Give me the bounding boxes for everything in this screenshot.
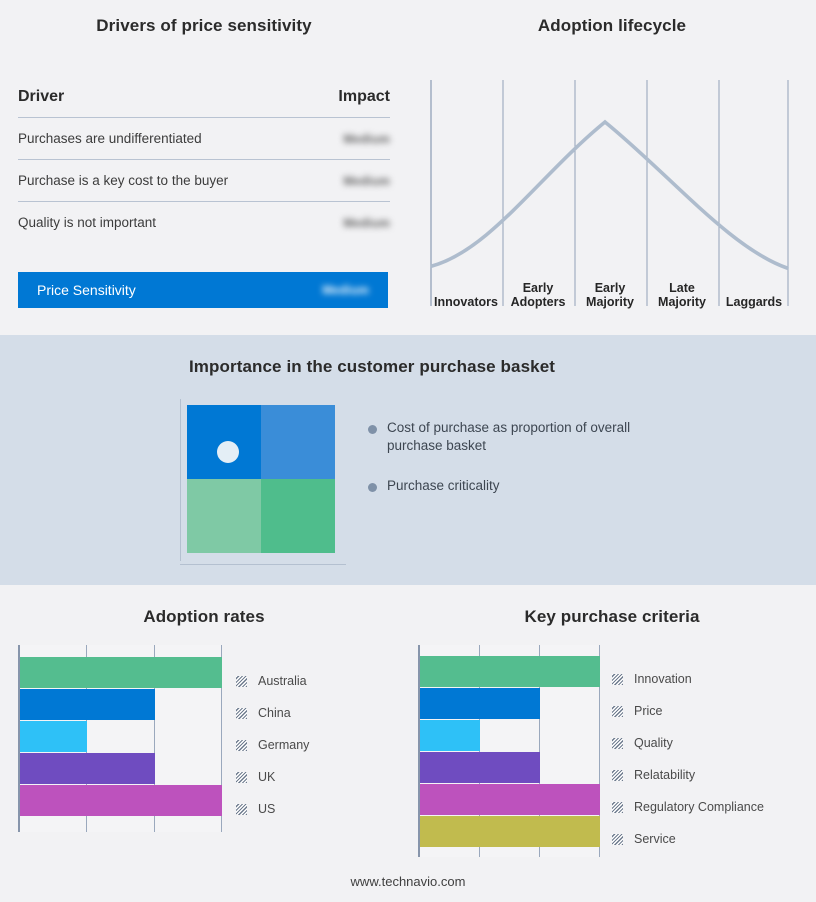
hatch-swatch-icon xyxy=(236,740,247,751)
legend-item: Regulatory Compliance xyxy=(612,791,764,823)
adoption-rates-chart xyxy=(18,645,222,832)
legend-label: Germany xyxy=(258,738,309,752)
lifecycle-stage-label: EarlyMajority xyxy=(574,281,646,310)
legend-item: Relatability xyxy=(612,759,764,791)
matrix-position-marker xyxy=(217,441,239,463)
legend-label: US xyxy=(258,802,275,816)
panel-title-adoption-rates: Adoption rates xyxy=(0,607,408,627)
column-header-driver: Driver xyxy=(18,88,294,118)
legend-label: Relatability xyxy=(634,768,695,782)
driver-name-cell: Quality is not important xyxy=(18,202,294,244)
lifecycle-bell-curve xyxy=(432,122,787,268)
impact-value-redacted: Medium xyxy=(343,132,390,146)
hatch-swatch-icon xyxy=(612,674,623,685)
panel-drivers-of-price-sensitivity: Drivers of price sensitivity Driver Impa… xyxy=(0,0,408,335)
panel-title-drivers: Drivers of price sensitivity xyxy=(0,16,408,36)
price-sensitivity-summary-row: Price Sensitivity Medium xyxy=(18,272,388,308)
legend-label: UK xyxy=(258,770,275,784)
lifecycle-stage-labels: InnovatorsEarlyAdoptersEarlyMajorityLate… xyxy=(430,266,790,310)
bar xyxy=(20,785,222,816)
quadrant-top-right xyxy=(261,405,335,479)
bar xyxy=(20,753,155,784)
table-header-row: Driver Impact xyxy=(18,88,390,118)
bar xyxy=(20,689,155,720)
legend-label: Price xyxy=(634,704,662,718)
legend-label: China xyxy=(258,706,291,720)
matrix-y-axis xyxy=(180,399,181,561)
bar xyxy=(420,656,600,687)
legend-item: Australia xyxy=(236,665,309,697)
panel-title-purchase-basket: Importance in the customer purchase bask… xyxy=(0,357,744,377)
matrix-quadrant-grid xyxy=(187,405,335,553)
table-row: Purchase is a key cost to the buyerMediu… xyxy=(18,160,390,202)
legend-label: Australia xyxy=(258,674,307,688)
driver-impact-cell: Medium xyxy=(294,118,390,160)
table-row: Purchases are undifferentiatedMedium xyxy=(18,118,390,160)
column-header-impact: Impact xyxy=(294,88,390,118)
legend-item: China xyxy=(236,697,309,729)
legend-item: Germany xyxy=(236,729,309,761)
driver-name-cell: Purchases are undifferentiated xyxy=(18,118,294,160)
key-purchase-criteria-chart xyxy=(418,645,600,857)
drivers-table: Driver Impact Purchases are undifferenti… xyxy=(18,88,390,243)
bar xyxy=(420,688,540,719)
panel-adoption-rates: Adoption rates AustraliaChinaGermanyUKUS xyxy=(0,585,408,902)
price-sensitivity-value: Medium xyxy=(322,281,388,299)
legend-label: Regulatory Compliance xyxy=(634,800,764,814)
driver-impact-cell: Medium xyxy=(294,160,390,202)
footer-url: www.technavio.com xyxy=(0,874,816,889)
lifecycle-stage-label: Innovators xyxy=(430,295,502,310)
bar xyxy=(420,720,480,751)
quadrant-bottom-right xyxy=(261,479,335,553)
legend-label: Service xyxy=(634,832,676,846)
legend-label: Purchase criticality xyxy=(387,477,500,495)
bar xyxy=(20,657,222,688)
legend-item: Price xyxy=(612,695,764,727)
bar xyxy=(420,816,600,847)
bar xyxy=(20,721,87,752)
legend-item: UK xyxy=(236,761,309,793)
plot-area xyxy=(18,645,222,832)
legend-item: Innovation xyxy=(612,663,764,695)
driver-impact-cell: Medium xyxy=(294,202,390,244)
legend-label: Cost of purchase as proportion of overal… xyxy=(387,419,647,455)
legend-item: Service xyxy=(612,823,764,855)
adoption-lifecycle-chart: InnovatorsEarlyAdoptersEarlyMajorityLate… xyxy=(430,80,790,310)
bar xyxy=(420,784,600,815)
hatch-swatch-icon xyxy=(236,676,247,687)
panel-title-adoption-lifecycle: Adoption lifecycle xyxy=(408,16,816,36)
panel-adoption-lifecycle: Adoption lifecycle InnovatorsEarlyAdopte… xyxy=(408,0,816,335)
hatch-swatch-icon xyxy=(612,706,623,717)
hatch-swatch-icon xyxy=(612,834,623,845)
purchase-basket-matrix xyxy=(180,399,350,565)
price-sensitivity-label: Price Sensitivity xyxy=(18,282,322,298)
bar xyxy=(420,752,540,783)
bullet-icon xyxy=(368,425,377,434)
hatch-swatch-icon xyxy=(612,738,623,749)
legend-item: Quality xyxy=(612,727,764,759)
legend-label: Quality xyxy=(634,736,673,750)
key-purchase-criteria-legend: InnovationPriceQualityRelatabilityRegula… xyxy=(612,663,764,855)
panel-importance-purchase-basket: Importance in the customer purchase bask… xyxy=(0,335,816,585)
adoption-rates-legend: AustraliaChinaGermanyUKUS xyxy=(236,665,309,825)
list-item: Purchase criticality xyxy=(368,477,668,495)
hatch-swatch-icon xyxy=(612,802,623,813)
lifecycle-stage-label: LateMajority xyxy=(646,281,718,310)
impact-value-redacted: Medium xyxy=(343,216,390,230)
impact-value-redacted: Medium xyxy=(343,174,390,188)
hatch-swatch-icon xyxy=(236,772,247,783)
driver-name-cell: Purchase is a key cost to the buyer xyxy=(18,160,294,202)
hatch-swatch-icon xyxy=(612,770,623,781)
list-item: Cost of purchase as proportion of overal… xyxy=(368,419,668,455)
legend-label: Innovation xyxy=(634,672,692,686)
matrix-x-axis xyxy=(180,564,346,565)
bullet-icon xyxy=(368,483,377,492)
legend-item: US xyxy=(236,793,309,825)
lifecycle-stage-label: EarlyAdopters xyxy=(502,281,574,310)
panel-key-purchase-criteria: Key purchase criteria InnovationPriceQua… xyxy=(408,585,816,902)
hatch-swatch-icon xyxy=(236,804,247,815)
plot-area xyxy=(418,645,600,857)
panel-title-key-purchase-criteria: Key purchase criteria xyxy=(408,607,816,627)
purchase-basket-legend: Cost of purchase as proportion of overal… xyxy=(368,419,668,517)
hatch-swatch-icon xyxy=(236,708,247,719)
table-row: Quality is not importantMedium xyxy=(18,202,390,244)
lifecycle-stage-label: Laggards xyxy=(718,295,790,310)
quadrant-bottom-left xyxy=(187,479,261,553)
